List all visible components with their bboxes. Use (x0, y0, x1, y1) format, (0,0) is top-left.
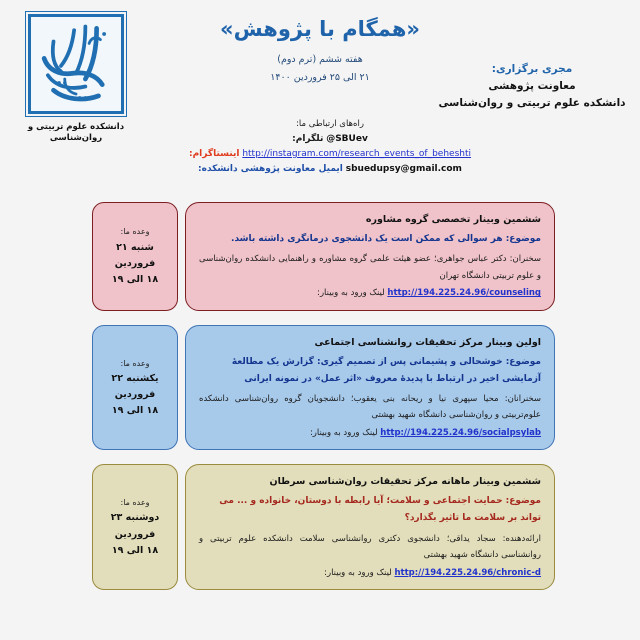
webinar-card-body: اولین وبینار مرکز تحقیقات روانشناسی اجتم… (185, 325, 555, 451)
telegram-handle[interactable]: @SBUev (326, 134, 368, 144)
contact-heading: راه‌های ارتباطی ما: (150, 118, 510, 132)
webinar-card-counseling: ششمین وبینار تخصصی گروه مشاوره موضوع: هر… (0, 202, 555, 311)
webinar-speaker: سخنران: دکتر عباس جواهری؛ عضو هیئت علمی … (199, 251, 541, 284)
webinar-date-box: وعده ما: دوشنبه ۲۳ فروردین ۱۸ الی ۱۹ (92, 464, 178, 590)
faculty-caption: دانشکده علوم تربیتی و روان‌شناسی (12, 122, 140, 144)
poster-page: دانشکده علوم تربیتی و روان‌شناسی «همگام … (0, 0, 640, 640)
date-heading: وعده ما: (97, 224, 173, 239)
webinar-card-cancer-psychology: ششمین وبینار ماهانه مرکز تحقیقات روان‌شن… (0, 464, 555, 590)
contact-row-instagram: http://instagram.com/research_events_of_… (150, 147, 510, 162)
date-time: ۱۸ الی ۱۹ (97, 272, 173, 288)
webinar-topic: موضوع: هر سوالی که ممکن است یک دانشجوی د… (199, 231, 541, 248)
webinar-cards-list: ششمین وبینار تخصصی گروه مشاوره موضوع: هر… (0, 202, 640, 604)
webinar-link-row: http://194.225.24.96/counseling لینک ورو… (199, 285, 541, 301)
instagram-link[interactable]: http://instagram.com/research_events_of_… (242, 149, 471, 159)
webinar-topic: موضوع: حمایت اجتماعی و سلامت؛ آیا رابطه … (199, 493, 541, 527)
page-title: «همگام با پژوهش» (175, 16, 465, 42)
organizer-label: مجری برگزاری: (432, 62, 632, 78)
telegram-label: تلگرام: (292, 134, 323, 144)
webinar-join-link[interactable]: http://194.225.24.96/counseling (387, 285, 541, 301)
organizer-block: مجری برگزاری: معاونت پژوهشی دانشکده علوم… (432, 62, 632, 112)
webinar-card-body: ششمین وبینار تخصصی گروه مشاوره موضوع: هر… (185, 202, 555, 311)
date-day: شنبه ۲۱ فروردین (97, 240, 173, 272)
date-heading: وعده ما: (97, 495, 173, 510)
date-day: یکشنبه ۲۲ فروردین (97, 371, 173, 403)
webinar-card-social-psychology: اولین وبینار مرکز تحقیقات روانشناسی اجتم… (0, 325, 555, 451)
webinar-date-box: وعده ما: شنبه ۲۱ فروردین ۱۸ الی ۱۹ (92, 202, 178, 311)
contact-row-email: sbuedupsy@gmail.com ایمیل معاونت پژوهشی … (150, 162, 510, 177)
webinar-topic: موضوع: خوشحالی و پشیمانی پس از تصمیم گیر… (199, 354, 541, 388)
organizer-line-1: معاونت پژوهشی (432, 78, 632, 95)
date-time: ۱۸ الی ۱۹ (97, 403, 173, 419)
webinar-join-link[interactable]: http://194.225.24.96/chronic-d (394, 565, 541, 581)
email-label: ایمیل معاونت پژوهشی دانشکده: (198, 164, 343, 174)
subtitle-dates: ۲۱ الی ۲۵ فروردین ۱۴۰۰ (175, 72, 465, 83)
title-block: «همگام با پژوهش» هفته ششم (ترم دوم) ۲۱ ا… (175, 16, 465, 83)
webinar-link-row: http://194.225.24.96/chronic-d لینک ورود… (199, 565, 541, 581)
organizer-line-2: دانشکده علوم تربیتی و روان‌شناسی (432, 95, 632, 112)
contact-block: راه‌های ارتباطی ما: @SBUev تلگرام: http:… (150, 118, 510, 177)
webinar-speaker: ارائه‌دهنده: سجاد یداقی؛ دانشجوی دکتری ر… (199, 531, 541, 564)
shahid-beheshti-university-logo-icon (28, 14, 124, 114)
date-heading: وعده ما: (97, 356, 173, 371)
webinar-link-label: لینک ورود به وبینار: (310, 428, 378, 438)
email-address[interactable]: sbuedupsy@gmail.com (346, 164, 462, 174)
webinar-link-label: لینک ورود به وبینار: (317, 288, 385, 298)
subtitle-week: هفته ششم (ترم دوم) (175, 54, 465, 65)
webinar-join-link[interactable]: http://194.225.24.96/socialpsylab (380, 425, 541, 441)
webinar-title: ششمین وبینار تخصصی گروه مشاوره (199, 212, 541, 227)
webinar-speaker: سخنرانان: محیا سپهری نیا و ریحانه بنی یع… (199, 391, 541, 424)
university-logo-block: دانشکده علوم تربیتی و روان‌شناسی (12, 14, 140, 144)
instagram-label: اینستاگرام: (189, 149, 239, 159)
poster-header: دانشکده علوم تربیتی و روان‌شناسی «همگام … (0, 0, 640, 190)
contact-row-telegram: @SBUev تلگرام: (150, 132, 510, 147)
webinar-link-row: http://194.225.24.96/socialpsylab لینک و… (199, 425, 541, 441)
webinar-title: ششمین وبینار ماهانه مرکز تحقیقات روان‌شن… (199, 474, 541, 489)
webinar-link-label: لینک ورود به وبینار: (324, 568, 392, 578)
date-time: ۱۸ الی ۱۹ (97, 543, 173, 559)
date-day: دوشنبه ۲۳ فروردین (97, 510, 173, 542)
webinar-date-box: وعده ما: یکشنبه ۲۲ فروردین ۱۸ الی ۱۹ (92, 325, 178, 451)
webinar-card-body: ششمین وبینار ماهانه مرکز تحقیقات روان‌شن… (185, 464, 555, 590)
webinar-title: اولین وبینار مرکز تحقیقات روانشناسی اجتم… (199, 335, 541, 350)
